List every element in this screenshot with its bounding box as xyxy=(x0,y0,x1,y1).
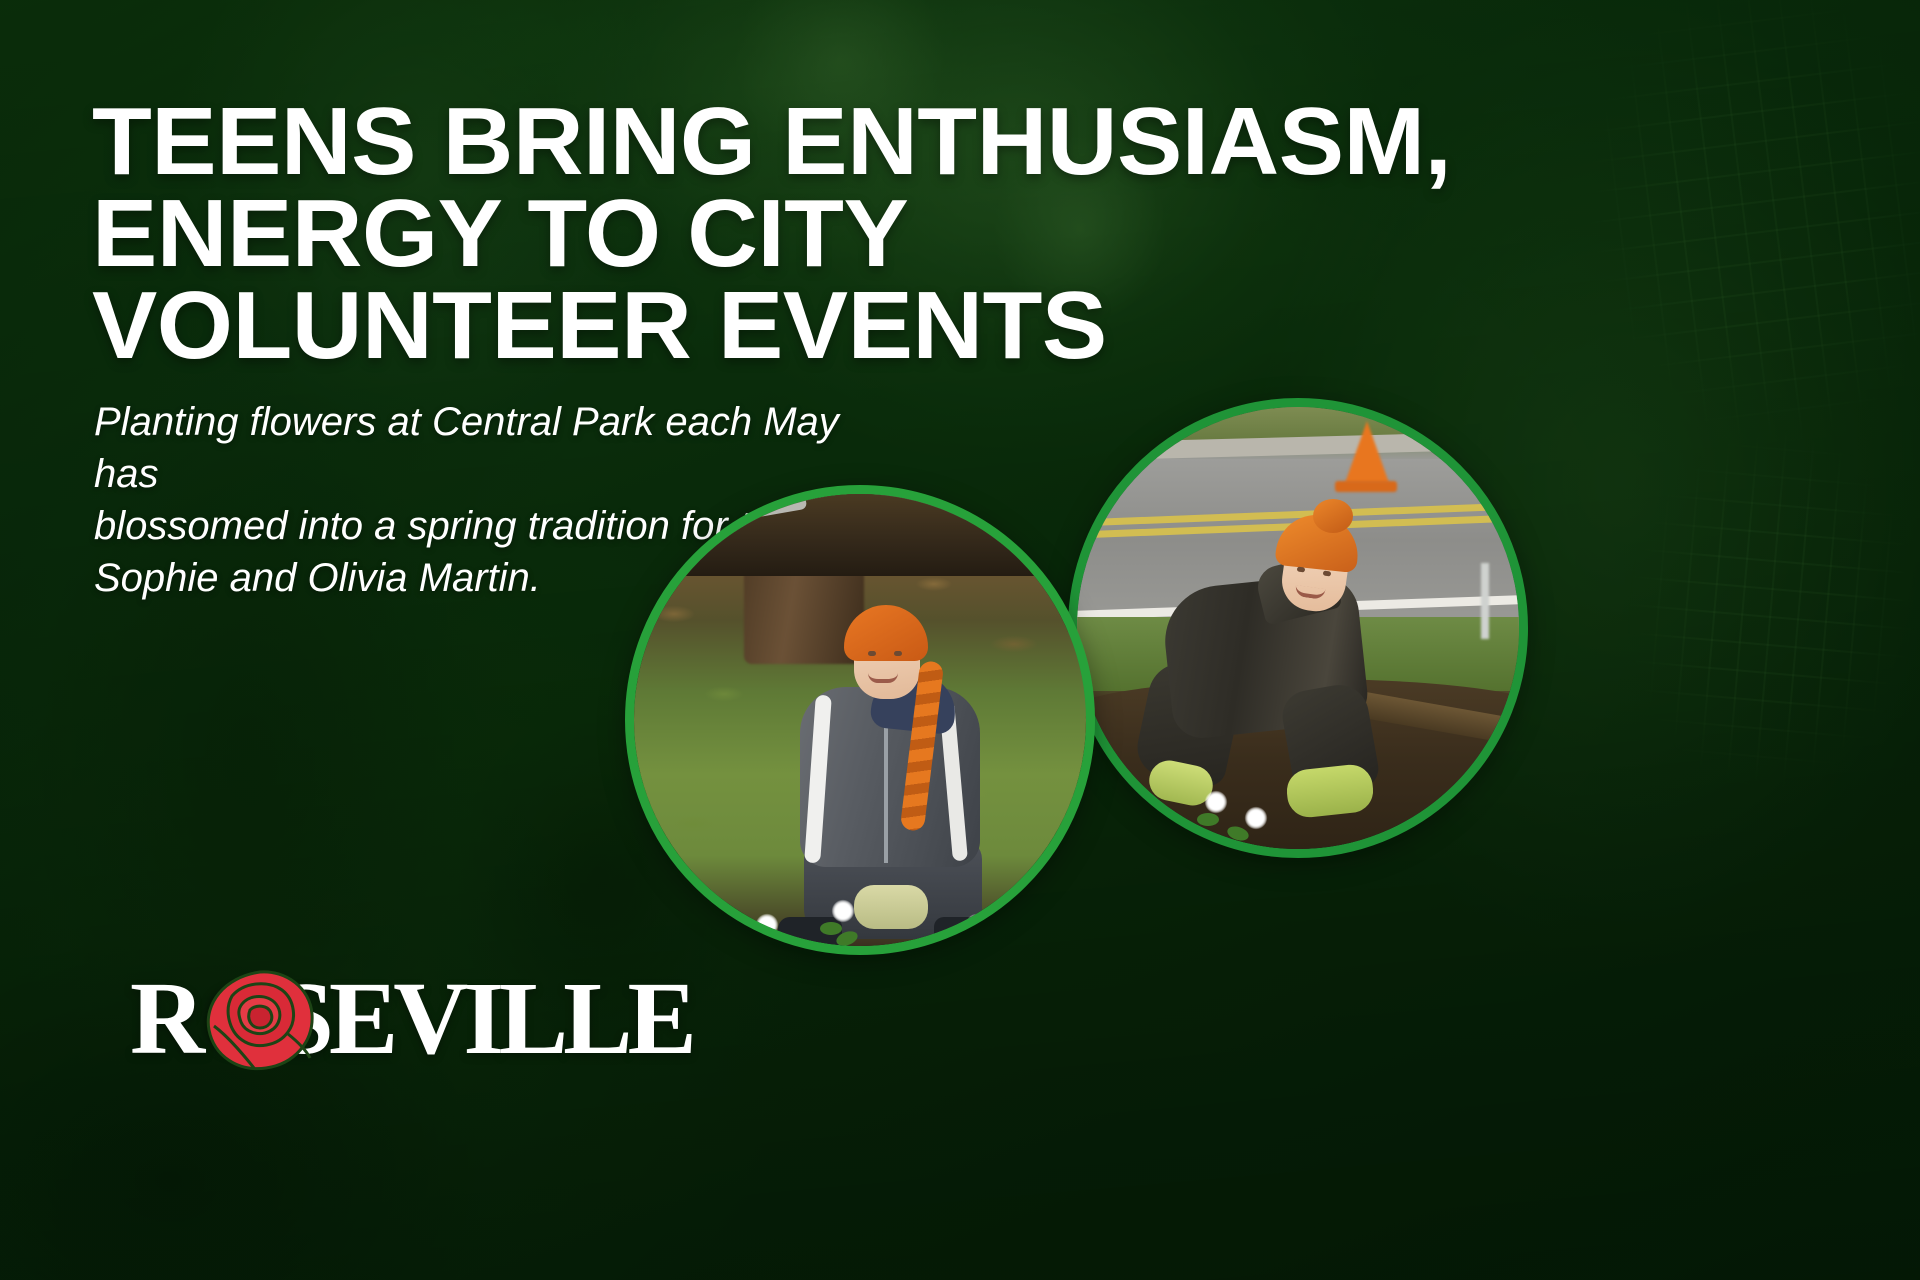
page-title: TEENS BRING ENTHUSIASM, ENERGY TO CITY V… xyxy=(92,96,1540,372)
photo-left-eye-right xyxy=(894,651,902,656)
logo-letters-seville: SEVILLE xyxy=(276,961,692,1076)
photo-left-soil xyxy=(625,494,1095,576)
photo-right-eye-left xyxy=(1297,566,1306,572)
photo-right-eye-right xyxy=(1323,570,1332,576)
photo-right-glove-right xyxy=(1285,763,1376,820)
photo-right-volunteer xyxy=(1137,517,1437,817)
photo-right-flower-1 xyxy=(1203,789,1229,815)
photo-left-flower-3 xyxy=(964,912,990,938)
photo-right-traffic-cone xyxy=(1345,421,1389,483)
photo-circle-right xyxy=(1068,398,1528,858)
photo-left-volunteer xyxy=(784,599,994,929)
photo-left-flower-1 xyxy=(830,898,856,924)
photo-left-flower-2 xyxy=(754,912,780,938)
photo-right-leaf-1 xyxy=(1197,813,1219,826)
photo-right-hair-bun xyxy=(1313,499,1353,533)
rose-icon xyxy=(202,968,318,1072)
photo-right-traffic-cone-base xyxy=(1335,481,1397,492)
roseville-logo[interactable]: ROSEVILLE xyxy=(130,960,750,1082)
photo-left-eye-left xyxy=(868,651,876,656)
photo-right-flower-2 xyxy=(1243,805,1269,831)
news-banner: TEENS BRING ENTHUSIASM, ENERGY TO CITY V… xyxy=(0,0,1920,1280)
photo-circle-left xyxy=(625,485,1095,955)
photo-left-leaf-1 xyxy=(820,922,842,935)
photo-right-marker-post xyxy=(1481,563,1489,639)
photo-left-hair xyxy=(844,605,928,661)
photo-left-gloves xyxy=(854,885,928,929)
logo-letter-r: R xyxy=(130,961,200,1076)
